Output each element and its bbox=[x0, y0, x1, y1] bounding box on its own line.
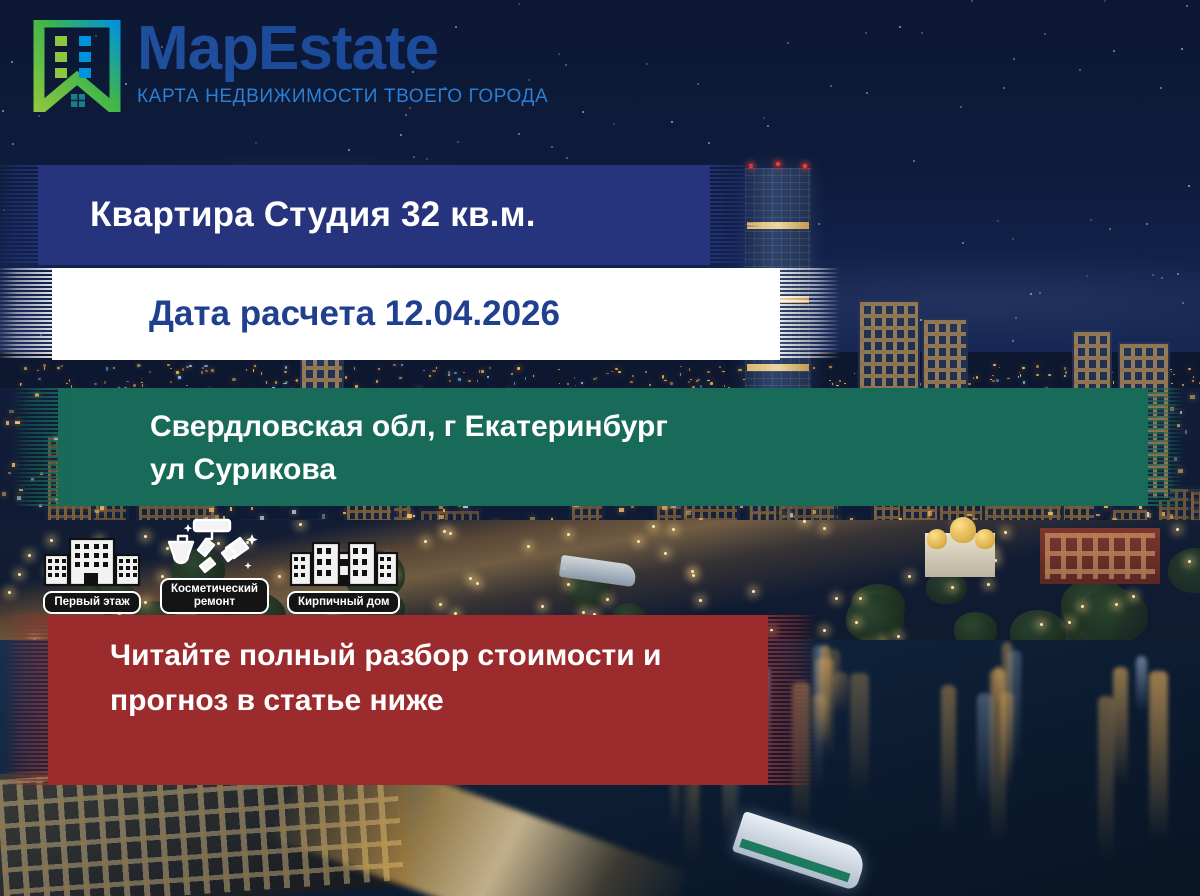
property-title-banner: Квартира Студия 32 кв.м. bbox=[38, 165, 710, 265]
badge-art bbox=[42, 531, 142, 589]
brand-tagline: КАРТА НЕДВИЖИМОСТИ ТВОЕГО ГОРОДА bbox=[137, 86, 548, 108]
bookmark-building-logo-icon bbox=[33, 20, 121, 112]
brick-houses-icon bbox=[289, 533, 399, 589]
brand-text: MapEstate КАРТА НЕДВИЖИМОСТИ ТВОЕГО ГОРО… bbox=[137, 18, 548, 108]
badge-brick-house: Кирпичный дом bbox=[287, 531, 401, 614]
address-text: Свердловская обл, г Екатеринбург ул Сури… bbox=[58, 388, 668, 491]
golden-dome bbox=[950, 517, 976, 543]
calculation-date-text: Дата расчета 12.04.2026 bbox=[52, 294, 560, 334]
red-brick-building bbox=[1040, 528, 1160, 584]
header: MapEstate КАРТА НЕДВИЖИМОСТИ ТВОЕГО ГОРО… bbox=[0, 0, 1200, 150]
golden-dome bbox=[975, 529, 995, 549]
cta-banner: Читайте полный разбор стоимости и прогно… bbox=[48, 615, 768, 785]
address-banner: Свердловская обл, г Екатеринбург ул Сури… bbox=[58, 388, 1148, 506]
address-line-street: ул Сурикова bbox=[150, 449, 668, 492]
badge-art bbox=[287, 531, 401, 589]
badge-first-floor: Первый этаж bbox=[42, 531, 142, 614]
banner-blur-edge-right bbox=[766, 268, 840, 360]
banner-blur-edge-right bbox=[756, 615, 816, 785]
feature-badges: Первый этаж bbox=[42, 518, 400, 614]
aviation-light-icon bbox=[776, 162, 780, 166]
tower-lit-band bbox=[747, 364, 809, 371]
aviation-light-icon bbox=[803, 164, 807, 168]
brand-logo[interactable]: MapEstate КАРТА НЕДВИЖИМОСТИ ТВОЕГО ГОРО… bbox=[33, 20, 548, 112]
brand-name-estate: Estate bbox=[258, 14, 438, 83]
badge-label: Первый этаж bbox=[43, 591, 140, 614]
cta-text: Читайте полный разбор стоимости и прогно… bbox=[48, 615, 688, 723]
church-with-golden-domes bbox=[915, 515, 1005, 577]
calculation-date-banner: Дата расчета 12.04.2026 bbox=[52, 268, 780, 360]
badge-art bbox=[160, 518, 269, 576]
golden-dome bbox=[927, 529, 947, 549]
apartment-building-icon bbox=[42, 533, 142, 589]
badge-label: Косметический ремонт bbox=[160, 578, 269, 614]
brand-name: MapEstate bbox=[137, 18, 548, 80]
property-title-text: Квартира Студия 32 кв.м. bbox=[38, 195, 536, 235]
banner-blur-edge-right bbox=[1138, 388, 1184, 506]
brand-name-map: Map bbox=[137, 14, 258, 83]
badge-label: Кирпичный дом bbox=[287, 591, 401, 614]
paint-roller-brush-icon bbox=[164, 518, 264, 576]
banner-blur-edge-right bbox=[700, 165, 762, 265]
badge-cosmetic-renovation: Косметический ремонт bbox=[160, 518, 269, 614]
address-line-region-city: Свердловская обл, г Екатеринбург bbox=[150, 406, 668, 449]
